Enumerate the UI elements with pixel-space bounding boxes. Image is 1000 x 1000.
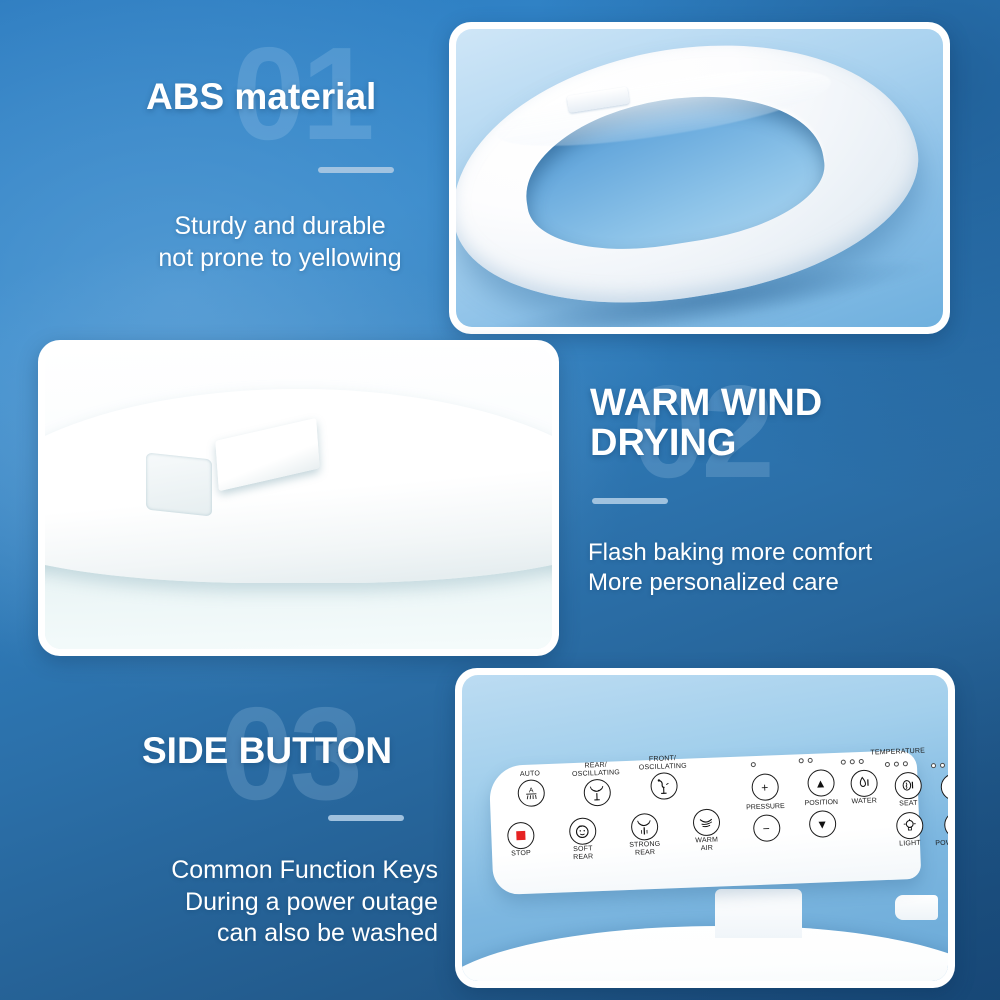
section-02-heading-line-2: DRYING: [590, 424, 928, 464]
led-indicator: [903, 761, 908, 766]
triangle-up-glyph: ▲: [815, 776, 827, 788]
led-indicator: [940, 762, 945, 767]
seat-body-knob: [895, 895, 939, 919]
temperature-label: TEMPERATURE: [870, 747, 925, 756]
svg-text:A: A: [528, 787, 533, 794]
side-control-panel-photo: AUTO A R: [462, 675, 948, 981]
button-pressure-up[interactable]: +: [735, 772, 794, 801]
seat-rim-highlight: [125, 399, 419, 422]
section-02-divider: [592, 498, 668, 504]
button-front-oscillating[interactable]: FRONT/ OSCILLATING: [634, 754, 694, 800]
section-01-heading: ABS material: [120, 78, 440, 116]
plus-glyph: +: [761, 781, 768, 793]
button-front-oscillating-label: FRONT/ OSCILLATING: [639, 754, 688, 772]
button-warm-air[interactable]: WARM AIR: [677, 807, 737, 853]
power-eco-icon: [943, 810, 948, 838]
section-02-body: Flash baking more comfort More personali…: [588, 538, 928, 598]
section-03-body-line-2: During a power outage: [128, 887, 438, 919]
triangle-down-glyph: ▼: [816, 817, 828, 829]
section-01-divider: [318, 167, 394, 173]
button-stop-label: STOP: [511, 849, 531, 858]
photo-background-seat: [456, 29, 943, 327]
toilet-seat-ring-photo: [456, 29, 943, 327]
triangle-down-icon: ▼: [808, 810, 836, 838]
button-air-temperature[interactable]: AIR: [924, 772, 948, 810]
led-indicator: [894, 761, 899, 766]
section-03-heading: SIDE BUTTON: [128, 732, 438, 770]
button-stop[interactable]: STOP: [491, 821, 550, 859]
button-auto-label: AUTO: [520, 770, 540, 779]
photo-card-side-button: AUTO A R: [455, 668, 955, 988]
position-led-group: [799, 757, 813, 763]
auto-wash-icon: A: [517, 779, 545, 807]
photo-card-warm-wind-drying: [38, 340, 559, 656]
seat-sensor-pad: [146, 452, 212, 516]
feature-section-01: 01 ABS material Sturdy and durable not p…: [120, 36, 440, 274]
heated-seat-icon: [894, 771, 922, 799]
led-indicator: [799, 758, 804, 763]
button-soft-rear-label: SOFT REAR: [573, 845, 594, 862]
warm-air-dryer-photo: [45, 347, 552, 649]
button-water-label: WATER: [852, 797, 878, 806]
control-panel-buttons: AUTO A R: [489, 749, 921, 894]
strong-spray-icon: [630, 812, 658, 840]
section-01-body-line-1: Sturdy and durable: [120, 211, 440, 243]
section-02-body-line-2: More personalized care: [588, 568, 928, 598]
seat-rim: [45, 389, 552, 582]
photo-background-panel: AUTO A R: [462, 675, 948, 981]
section-03-divider: [328, 815, 404, 821]
feature-section-03: 03 SIDE BUTTON Common Function Keys Duri…: [128, 700, 438, 950]
section-02-body-line-1: Flash baking more comfort: [588, 538, 928, 568]
button-strong-rear-label: STRONG REAR: [629, 840, 661, 857]
led-indicator: [931, 763, 936, 768]
led-indicator: [859, 758, 864, 763]
button-strong-rear[interactable]: STRONG REAR: [615, 812, 675, 858]
button-power-eco-label: POWER/ECO: [935, 838, 948, 848]
section-01-body: Sturdy and durable not prone to yellowin…: [120, 211, 440, 274]
button-light-label: LIGHT: [899, 839, 921, 848]
led-indicator: [841, 759, 846, 764]
minus-icon: −: [752, 814, 780, 842]
air-nozzle-icon: [940, 773, 948, 801]
pressure-led-group: [751, 762, 756, 767]
stop-square-glyph: [516, 831, 525, 840]
triangle-up-icon: ▲: [807, 769, 835, 797]
seat-led-group: [885, 761, 908, 767]
warm-air-icon: [692, 808, 720, 836]
section-03-body-line-3: can also be washed: [128, 918, 438, 950]
section-02-heading-line-1: WARM WIND: [590, 384, 928, 424]
seat-body-neck: [715, 889, 802, 938]
plus-icon: +: [751, 773, 779, 801]
button-rear-oscillating[interactable]: REAR/ OSCILLATING: [567, 761, 627, 807]
led-indicator: [885, 761, 890, 766]
air-led-group: [931, 762, 948, 768]
water-led-group: [841, 758, 864, 764]
button-rear-oscillating-label: REAR/ OSCILLATING: [572, 761, 621, 779]
stop-square-icon: [507, 821, 535, 849]
feature-section-02: 02 WARM WIND DRYING Flash baking more co…: [588, 372, 928, 599]
button-pressure-down[interactable]: −: [737, 813, 796, 842]
rear-oscillating-icon: [583, 778, 611, 806]
water-drop-icon: [850, 769, 878, 797]
photo-card-abs-material: [449, 22, 950, 334]
section-01-body-line-2: not prone to yellowing: [120, 243, 440, 275]
button-auto[interactable]: AUTO A: [501, 769, 560, 807]
baby-face-icon: [568, 817, 596, 845]
section-02-heading: WARM WIND DRYING: [588, 384, 928, 463]
led-indicator: [808, 757, 813, 762]
button-power-eco[interactable]: POWER/ECO: [928, 810, 948, 848]
led-indicator: [850, 759, 855, 764]
button-position-down[interactable]: ▼: [793, 809, 852, 838]
toilet-seat-body: [462, 926, 948, 981]
front-oscillating-icon: [650, 772, 678, 800]
pressure-label: PRESSURE: [736, 802, 796, 811]
light-bulb-icon: [895, 811, 923, 839]
button-soft-rear[interactable]: SOFT REAR: [553, 816, 613, 862]
seat-ring-group: [456, 29, 943, 327]
button-seat-label: SEAT: [899, 799, 918, 808]
button-warm-air-label: WARM AIR: [695, 836, 718, 853]
section-03-body-line-1: Common Function Keys: [128, 855, 438, 887]
section-03-body: Common Function Keys During a power outa…: [128, 855, 438, 950]
photo-background-dryer: [45, 347, 552, 649]
led-indicator: [751, 762, 756, 767]
minus-glyph: −: [763, 822, 770, 834]
